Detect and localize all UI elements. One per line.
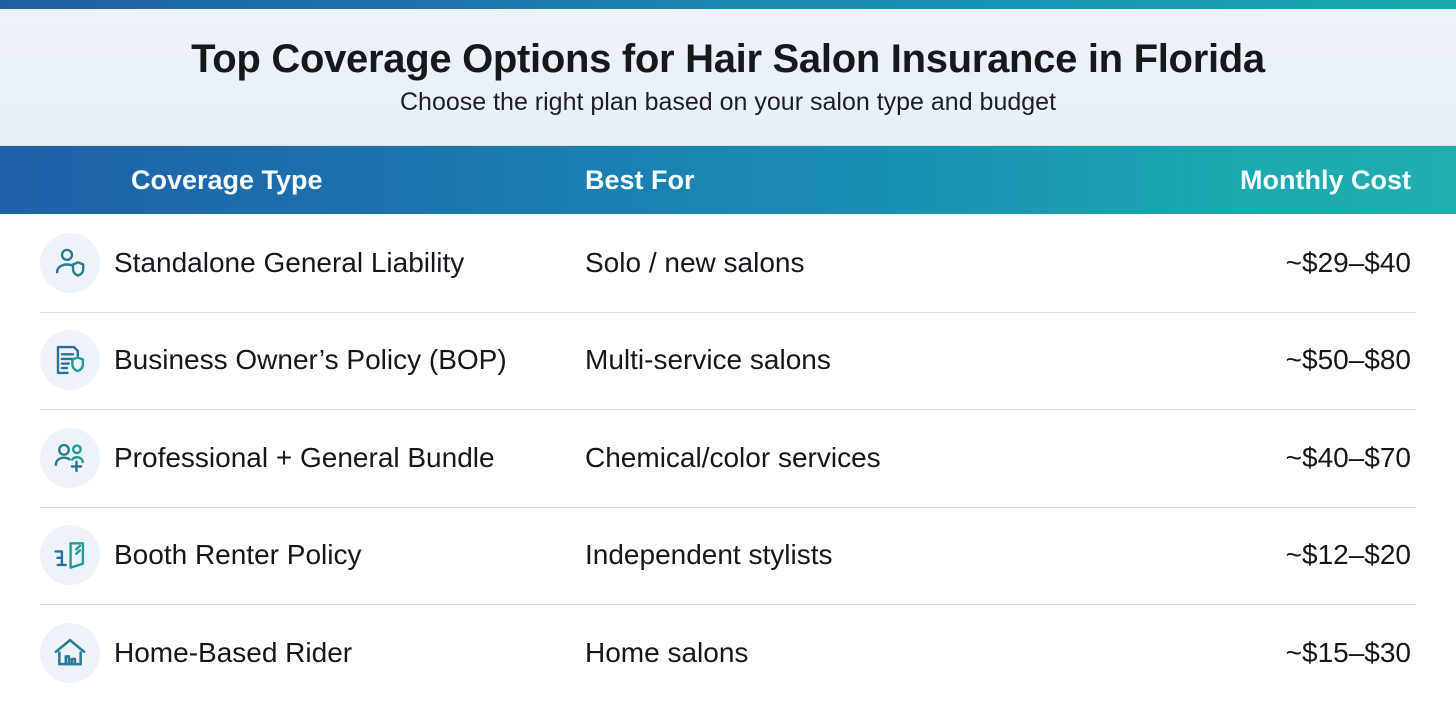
header-block: Top Coverage Options for Hair Salon Insu…: [0, 9, 1456, 146]
table-header-row: Coverage Type Best For Monthly Cost: [0, 146, 1456, 214]
cell-monthly-cost: ~$15–$30: [1045, 637, 1456, 669]
cell-best-for: Solo / new salons: [585, 247, 1045, 279]
cell-monthly-cost: ~$50–$80: [1045, 344, 1456, 376]
cell-best-for: Multi-service salons: [585, 344, 1045, 376]
cell-monthly-cost: ~$29–$40: [1045, 247, 1456, 279]
cell-best-for: Independent stylists: [585, 539, 1045, 571]
cell-monthly-cost: ~$40–$70: [1045, 442, 1456, 474]
page-title: Top Coverage Options for Hair Salon Insu…: [191, 37, 1265, 81]
table-row: Home-Based Rider Home salons ~$15–$30: [0, 604, 1456, 702]
table-row: Booth Renter Policy Independent stylists…: [0, 507, 1456, 605]
cell-best-for: Chemical/color services: [585, 442, 1045, 474]
table-row: Business Owner’s Policy (BOP) Multi-serv…: [0, 312, 1456, 410]
salon-chair-mirror-icon: [40, 525, 100, 585]
top-accent-bar: [0, 0, 1456, 9]
column-header-coverage-type: Coverage Type: [0, 165, 585, 196]
coverage-type-label: Business Owner’s Policy (BOP): [114, 344, 507, 376]
page-subtitle: Choose the right plan based on your salo…: [400, 89, 1056, 117]
column-header-best-for: Best For: [585, 165, 1045, 196]
person-shield-icon: [40, 233, 100, 293]
coverage-type-label: Booth Renter Policy: [114, 539, 361, 571]
cell-coverage-type: Booth Renter Policy: [0, 525, 585, 585]
cell-monthly-cost: ~$12–$20: [1045, 539, 1456, 571]
cell-coverage-type: Professional + General Bundle: [0, 428, 585, 488]
table-body: Standalone General Liability Solo / new …: [0, 214, 1456, 720]
table-row: Standalone General Liability Solo / new …: [0, 214, 1456, 312]
table-row: Professional + General Bundle Chemical/c…: [0, 409, 1456, 507]
house-icon: [40, 623, 100, 683]
infographic-card: Top Coverage Options for Hair Salon Insu…: [0, 0, 1456, 720]
column-header-monthly-cost: Monthly Cost: [1045, 165, 1456, 196]
people-plus-icon: [40, 428, 100, 488]
cell-coverage-type: Standalone General Liability: [0, 233, 585, 293]
cell-coverage-type: Home-Based Rider: [0, 623, 585, 683]
coverage-type-label: Home-Based Rider: [114, 637, 352, 669]
cell-coverage-type: Business Owner’s Policy (BOP): [0, 330, 585, 390]
coverage-type-label: Professional + General Bundle: [114, 442, 495, 474]
cell-best-for: Home salons: [585, 637, 1045, 669]
document-shield-icon: [40, 330, 100, 390]
coverage-type-label: Standalone General Liability: [114, 247, 464, 279]
